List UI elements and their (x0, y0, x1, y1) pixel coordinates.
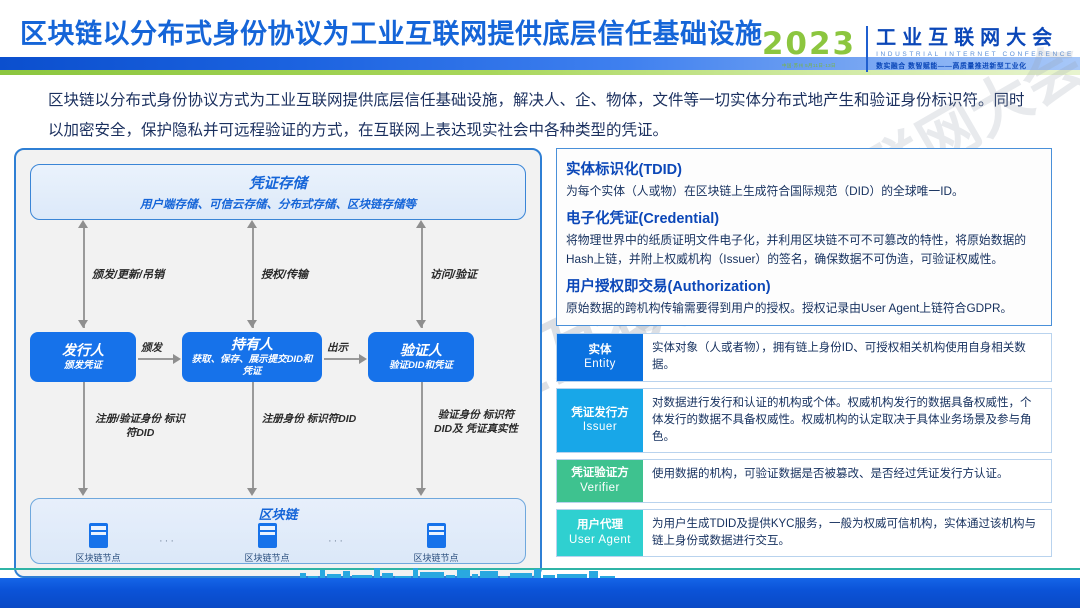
row-value-issuer: 对数据进行发行和认证的机构或个体。权威机构发行的数据具备权威性，个体发行的数据不… (643, 389, 1051, 453)
page-header: 区块链以分布式身份协议为工业互联网提供底层信任基础设施 2023 中国·苏州 5… (0, 0, 1080, 80)
connector-up-1 (83, 228, 85, 328)
blockchain-box: 区块链 区块链节点 ··· 区块链节点 ··· 区块链节点 (30, 498, 526, 564)
row-key-user-agent: 用户代理 User Agent (557, 510, 643, 557)
credential-storage-box: 凭证存储 用户端存储、可信云存储、分布式存储、区块链存储等 (30, 164, 526, 220)
arrow-up-2-icon (247, 220, 257, 228)
page-title: 区块链以分布式身份协议为工业互联网提供底层信任基础设施 (20, 12, 763, 51)
up-label-2: 授权/传输 (261, 266, 308, 282)
logo-slogan: 数实融合 数智赋能——高质量推进新型工业化 (876, 60, 1074, 70)
row-key-verifier: 凭证验证方 Verifier (557, 460, 643, 501)
row-key-en: Entity (584, 357, 616, 372)
arrow-chain-1-icon (78, 488, 88, 496)
identity-flow-diagram: 凭证存储 用户端存储、可信云存储、分布式存储、区块链存储等 颁发/更新/吊销 授… (14, 148, 542, 578)
blockchain-node-icon (89, 523, 108, 548)
role-verifier-title: 验证人 (400, 343, 442, 358)
conference-logo: 2023 中国·苏州 5月11日-13日 工业互联网大会 INDUSTRIAL … (762, 22, 1074, 76)
chain-dots-2: ··· (328, 535, 345, 547)
up-label-3: 访问/验证 (430, 266, 477, 282)
logo-year-block: 2023 中国·苏州 5月11日-13日 (762, 22, 866, 76)
role-box-verifier[interactable]: 验证人 验证DID和凭证 (368, 332, 474, 382)
down-label-2: 注册身份 标识符DID (261, 412, 357, 426)
section-heading-credential: 电子化凭证(Credential) (566, 207, 1042, 228)
logo-year: 2023 (762, 29, 856, 60)
role-issuer-subtitle: 颁发凭证 (64, 360, 102, 371)
logo-chinese-name: 工业互联网大会 (876, 28, 1074, 49)
role-holder-title: 持有人 (231, 337, 273, 352)
row-key-cn: 用户代理 (577, 518, 623, 532)
row-key-en: Issuer (583, 420, 617, 435)
blockchain-node-label: 区块链节点 (408, 551, 464, 564)
page-footer (0, 568, 1080, 608)
blockchain-node-1: 区块链节点 (70, 523, 126, 564)
role-box-holder[interactable]: 持有人 获取、保存、展示提交DID和凭证 (182, 332, 322, 382)
connector-up-2 (252, 228, 254, 328)
flow-connector-2 (324, 358, 360, 360)
flow-label-issue: 颁发 (141, 340, 162, 355)
arrow-chain-3-icon (416, 488, 426, 496)
down-label-3: 验证身份 标识符DID及 凭证真实性 (430, 408, 522, 436)
up-label-1: 颁发/更新/吊销 (92, 266, 164, 282)
concepts-panel: 实体标识化(TDID) 为每个实体（人或物）在区块链上生成符合国际规范（DID）… (556, 148, 1052, 563)
arrow-chain-2-icon (247, 488, 257, 496)
row-key-en: User Agent (569, 533, 631, 548)
section-body-credential: 将物理世界中的纸质证明文件电子化，并利用区块链不可不可篡改的特性，将原始数据的H… (566, 231, 1042, 268)
arrow-up-3-icon (416, 220, 426, 228)
row-value-verifier: 使用数据的机构，可验证数据是否被篡改、是否经过凭证发行方认证。 (643, 460, 1051, 501)
blockchain-title: 区块链 (31, 504, 525, 523)
role-verifier-subtitle: 验证DID和凭证 (389, 360, 453, 371)
down-label-1: 注册/验证身份 标识符DID (92, 412, 188, 440)
row-key-cn: 凭证发行方 (571, 406, 629, 420)
blockchain-node-icon (427, 523, 446, 548)
blockchain-node-label: 区块链节点 (70, 551, 126, 564)
roles-table: 实体 Entity 实体对象（人或者物），拥有链上身份ID、可授权相关机构使用自… (556, 333, 1052, 557)
footer-blue-band (0, 578, 1080, 608)
chain-dots-1: ··· (159, 535, 176, 547)
logo-year-subtitle: 中国·苏州 5月11日-13日 (782, 63, 836, 69)
concept-definitions-box: 实体标识化(TDID) 为每个实体（人或物）在区块链上生成符合国际规范（DID）… (556, 148, 1052, 326)
arrow-down-1-icon (78, 320, 88, 328)
logo-divider (866, 26, 868, 72)
table-row: 凭证验证方 Verifier 使用数据的机构，可验证数据是否被篡改、是否经过凭证… (556, 459, 1052, 502)
blockchain-node-3: 区块链节点 (408, 523, 464, 564)
connector-up-3 (421, 228, 423, 328)
connector-down-2 (252, 382, 254, 490)
row-key-cn: 凭证验证方 (571, 466, 629, 480)
row-key-en: Verifier (580, 481, 620, 496)
logo-text-block: 工业互联网大会 INDUSTRIAL INTERNET CONFERENCE 数… (876, 22, 1074, 76)
table-row: 用户代理 User Agent 为用户生成TDID及提供KYC服务，一般为权威可… (556, 509, 1052, 558)
row-value-entity: 实体对象（人或者物），拥有链上身份ID、可授权相关机构使用自身相关数据。 (643, 334, 1051, 381)
section-heading-authorization: 用户授权即交易(Authorization) (566, 275, 1042, 296)
credential-storage-subtitle: 用户端存储、可信云存储、分布式存储、区块链存储等 (140, 196, 416, 212)
blockchain-node-icon (258, 523, 277, 548)
arrow-down-3-icon (416, 320, 426, 328)
flow-connector-1 (138, 358, 174, 360)
blockchain-node-label: 区块链节点 (239, 551, 295, 564)
credential-storage-title: 凭证存储 (249, 172, 307, 193)
connector-down-3 (421, 382, 423, 490)
arrow-up-1-icon (78, 220, 88, 228)
blockchain-node-2: 区块链节点 (239, 523, 295, 564)
role-issuer-title: 发行人 (62, 343, 104, 358)
section-body-tdid: 为每个实体（人或物）在区块链上生成符合国际规范（DID）的全球唯一ID。 (566, 182, 1042, 200)
intro-paragraph: 区块链以分布式身份协议方式为工业互联网提供底层信任基础设施，解决人、企、物体，文… (48, 86, 1038, 146)
row-key-entity: 实体 Entity (557, 334, 643, 381)
row-key-cn: 实体 (589, 343, 612, 357)
flow-arrow-2-icon (359, 354, 367, 364)
connector-down-1 (83, 382, 85, 490)
table-row: 凭证发行方 Issuer 对数据进行发行和认证的机构或个体。权威机构发行的数据具… (556, 388, 1052, 454)
role-holder-subtitle: 获取、保存、展示提交DID和凭证 (182, 354, 322, 377)
section-body-authorization: 原始数据的跨机构传输需要得到用户的授权。授权记录由User Agent上链符合G… (566, 299, 1042, 317)
row-value-user-agent: 为用户生成TDID及提供KYC服务，一般为权威可信机构，实体通过该机构与链上身份… (643, 510, 1051, 557)
row-key-issuer: 凭证发行方 Issuer (557, 389, 643, 453)
logo-english-name: INDUSTRIAL INTERNET CONFERENCE (876, 51, 1074, 58)
section-heading-tdid: 实体标识化(TDID) (566, 158, 1042, 179)
flow-label-present: 出示 (327, 340, 348, 355)
arrow-down-2-icon (247, 320, 257, 328)
flow-arrow-1-icon (173, 354, 181, 364)
table-row: 实体 Entity 实体对象（人或者物），拥有链上身份ID、可授权相关机构使用自… (556, 333, 1052, 382)
role-box-issuer[interactable]: 发行人 颁发凭证 (30, 332, 136, 382)
